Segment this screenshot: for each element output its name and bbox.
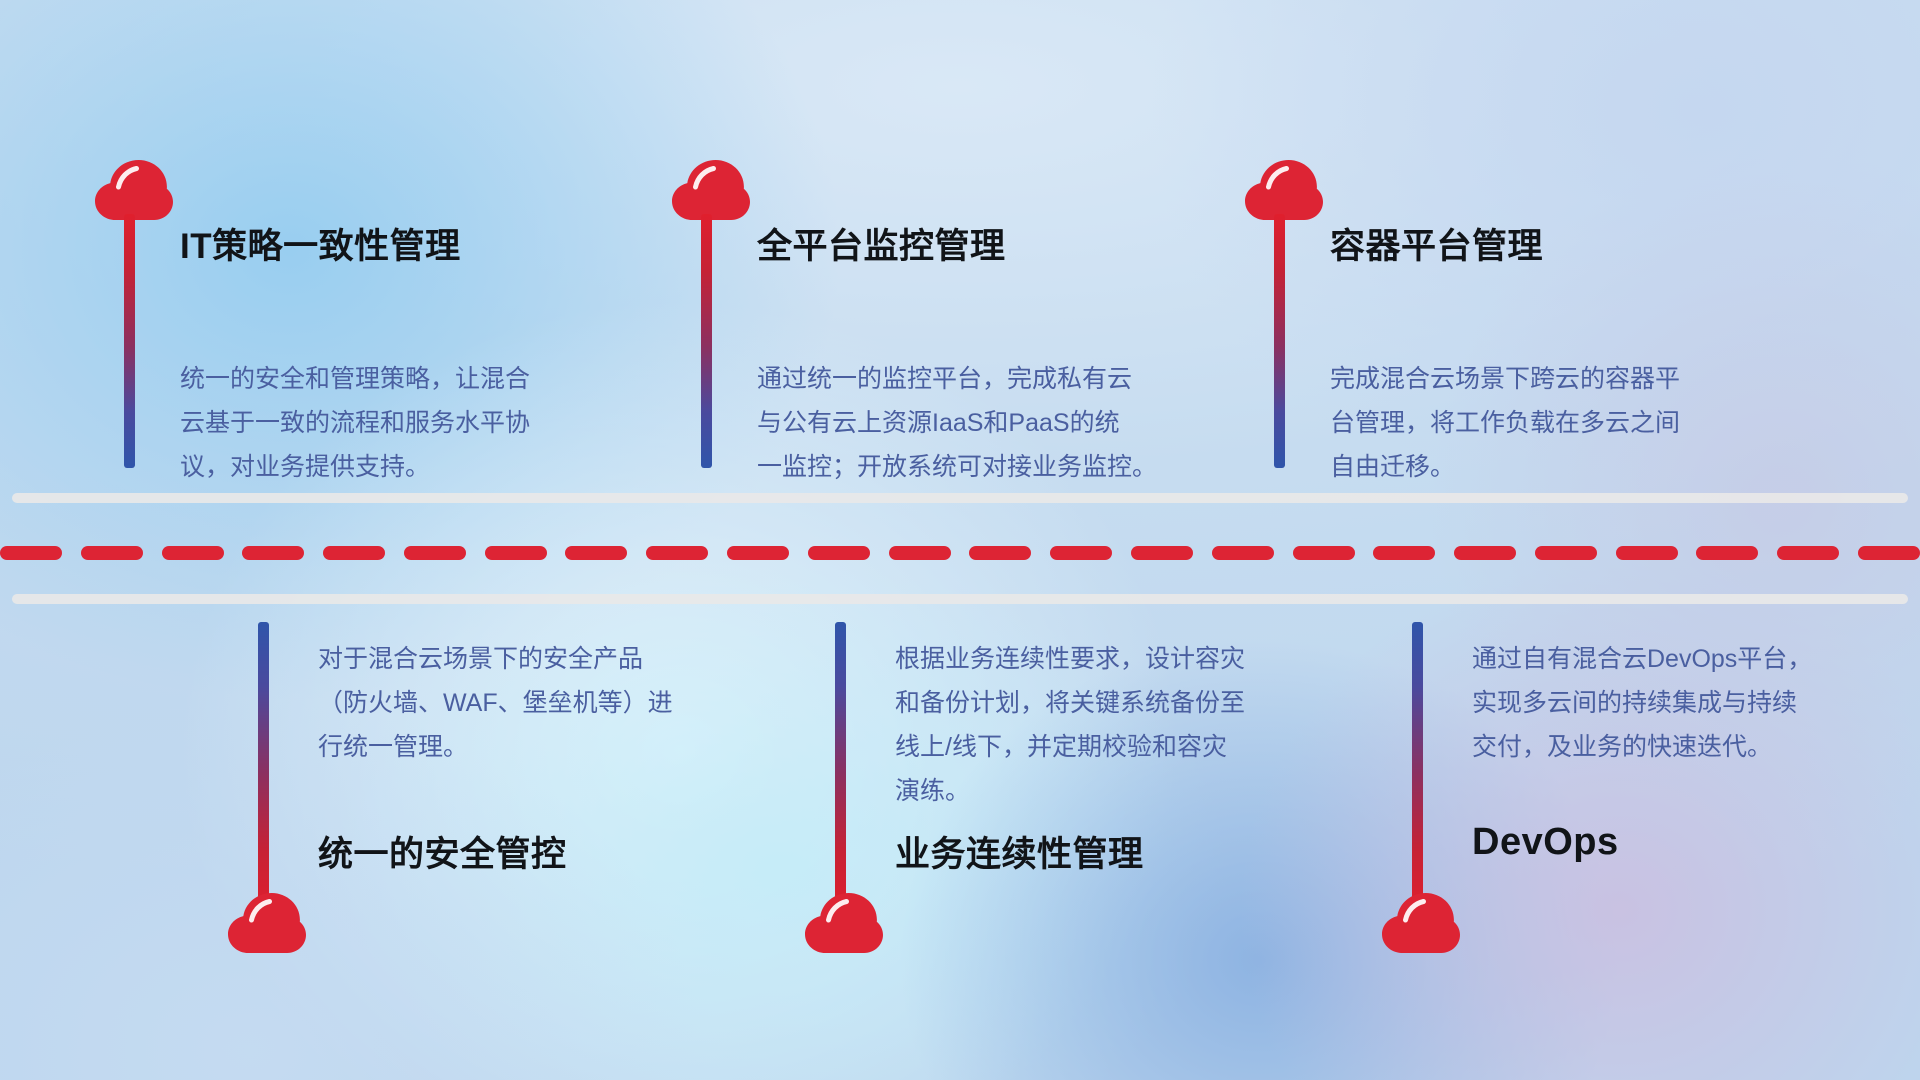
divider-dash bbox=[1050, 546, 1112, 560]
divider-dash bbox=[1777, 546, 1839, 560]
divider-dashed-line bbox=[0, 546, 1920, 560]
divider-dash bbox=[969, 546, 1031, 560]
item-heading: IT策略一致性管理 bbox=[180, 218, 461, 269]
divider-dash bbox=[0, 546, 62, 560]
cloud-icon bbox=[1245, 160, 1323, 222]
divider-rail-bottom bbox=[12, 594, 1908, 604]
cloud-icon bbox=[228, 893, 306, 955]
divider-dash bbox=[889, 546, 951, 560]
divider-dash bbox=[1696, 546, 1758, 560]
item-body: 对于混合云场景下的安全产品 （防火墙、WAF、堡垒机等）进 行统一管理。 bbox=[318, 637, 778, 769]
timeline-bar bbox=[124, 214, 135, 468]
divider-dash bbox=[162, 546, 224, 560]
cloud-icon bbox=[1382, 893, 1460, 955]
cloud-icon bbox=[805, 893, 883, 955]
divider-dash bbox=[404, 546, 466, 560]
cloud-icon bbox=[95, 160, 173, 222]
item-heading: 全平台监控管理 bbox=[757, 218, 1006, 269]
timeline-bar bbox=[835, 622, 846, 914]
item-heading: 容器平台管理 bbox=[1330, 218, 1543, 269]
item-body: 通过统一的监控平台，完成私有云 与公有云上资源IaaS和PaaS的统 一监控；开… bbox=[757, 357, 1247, 489]
item-heading: 统一的安全管控 bbox=[318, 826, 567, 877]
timeline-bar bbox=[258, 622, 269, 914]
divider-dash bbox=[565, 546, 627, 560]
item-body: 完成混合云场景下跨云的容器平 台管理，将工作负载在多云之间 自由迁移。 bbox=[1330, 357, 1790, 489]
divider-dash bbox=[727, 546, 789, 560]
divider-rail-top bbox=[12, 493, 1908, 503]
divider-dash bbox=[1858, 546, 1920, 560]
divider-dash bbox=[1373, 546, 1435, 560]
item-body: 统一的安全和管理策略，让混合 云基于一致的流程和服务水平协 议，对业务提供支持。 bbox=[180, 357, 640, 489]
cloud-icon bbox=[672, 160, 750, 222]
item-heading: DevOps bbox=[1472, 821, 1619, 864]
divider-dash bbox=[485, 546, 547, 560]
divider-dash bbox=[646, 546, 708, 560]
divider-dash bbox=[242, 546, 304, 560]
item-body: 通过自有混合云DevOps平台， 实现多云间的持续集成与持续 交付，及业务的快速… bbox=[1472, 637, 1920, 769]
divider-dash bbox=[1131, 546, 1193, 560]
divider-dash bbox=[1212, 546, 1274, 560]
timeline-bar bbox=[1412, 622, 1423, 914]
divider-dash bbox=[808, 546, 870, 560]
divider-dash bbox=[323, 546, 385, 560]
divider-dash bbox=[81, 546, 143, 560]
divider-dash bbox=[1293, 546, 1355, 560]
timeline-bar bbox=[1274, 214, 1285, 468]
item-body: 根据业务连续性要求，设计容灾 和备份计划，将关键系统备份至 线上/线下，并定期校… bbox=[895, 637, 1355, 813]
divider-dash bbox=[1616, 546, 1678, 560]
item-heading: 业务连续性管理 bbox=[895, 826, 1144, 877]
divider-dash bbox=[1535, 546, 1597, 560]
divider-dash bbox=[1454, 546, 1516, 560]
timeline-bar bbox=[701, 214, 712, 468]
